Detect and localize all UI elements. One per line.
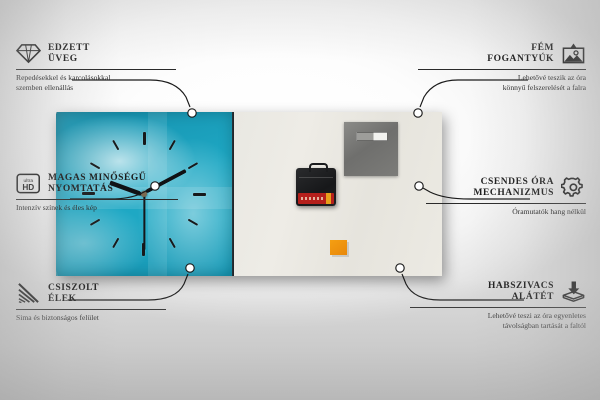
clock-back-panel — [234, 112, 442, 276]
divider — [426, 203, 586, 204]
divider — [410, 307, 586, 308]
feature-title-line1: FÉM — [531, 43, 554, 53]
divider — [16, 309, 166, 310]
mechanism-battery-label — [298, 193, 334, 204]
feature-foam-pad: HABSZIVACS ALÁTÉT Lehetővé teszi az óra … — [410, 280, 586, 332]
polished-edges-icon — [16, 282, 41, 305]
feature-title-line1: EDZETT — [48, 43, 90, 53]
feature-title-line1: CSENDES ÓRA — [481, 177, 554, 187]
feature-description: Óramutatók hang nélkül — [426, 207, 586, 217]
feature-title-line1: CSISZOLT — [48, 283, 99, 293]
ultra-hd-icon: ultra HD — [16, 172, 41, 195]
feature-polished-edges: CSISZOLT ÉLEK Sima és biztonságos felüle… — [16, 282, 166, 323]
feature-title-line2: FOGANTYÚK — [487, 54, 554, 64]
mechanism-seam — [299, 177, 333, 178]
divider — [418, 69, 586, 70]
feature-silent-mechanism: CSENDES ÓRA MECHANIZMUS Óramutatók hang … — [426, 176, 586, 217]
foam-pad-icon — [561, 280, 586, 303]
feature-title-line2: ÜVEG — [48, 54, 78, 64]
diamond-icon — [16, 42, 41, 65]
feature-description: Intenzív színek és éles kép — [16, 203, 178, 213]
feature-title-line1: HABSZIVACS — [488, 281, 554, 291]
feature-metal-handles: FÉM FOGANTYÚK Lehetővé teszik az óra kön… — [418, 42, 586, 94]
infographic-canvas: EDZETT ÜVEG Repedésekkel és karcolásokka… — [0, 0, 600, 400]
feature-description: Lehetővé teszik az óra könnyű felszerelé… — [418, 73, 586, 94]
hanger-slot — [356, 132, 388, 141]
feature-title-line2: MECHANIZMUS — [474, 188, 554, 198]
mechanism-handle — [309, 163, 328, 172]
foam-spacer-pad — [330, 240, 347, 255]
feature-description: Lehetővé teszi az óra egyenletes távolsá… — [410, 311, 586, 332]
feature-title-line2: ÉLEK — [48, 294, 77, 304]
svg-text:HD: HD — [22, 183, 34, 192]
divider — [16, 69, 176, 70]
gear-icon — [561, 176, 586, 199]
divider — [16, 199, 178, 200]
picture-hanger-icon — [561, 42, 586, 65]
feature-description: Sima és biztonságos felület — [16, 313, 166, 323]
quartz-clock-mechanism — [296, 168, 336, 206]
feature-description: Repedésekkel és karcolásokkal szemben el… — [16, 73, 176, 94]
metal-hanger-plate — [344, 122, 398, 176]
feature-title-line2: ALÁTÉT — [512, 292, 554, 302]
feature-tempered-glass: EDZETT ÜVEG Repedésekkel és karcolásokka… — [16, 42, 176, 94]
feature-high-quality-print: ultra HD MAGAS MINŐSÉGŰ NYOMTATÁS Intenz… — [16, 172, 178, 213]
feature-title-line1: MAGAS MINŐSÉGŰ — [48, 173, 146, 183]
feature-title-line2: NYOMTATÁS — [48, 184, 113, 194]
